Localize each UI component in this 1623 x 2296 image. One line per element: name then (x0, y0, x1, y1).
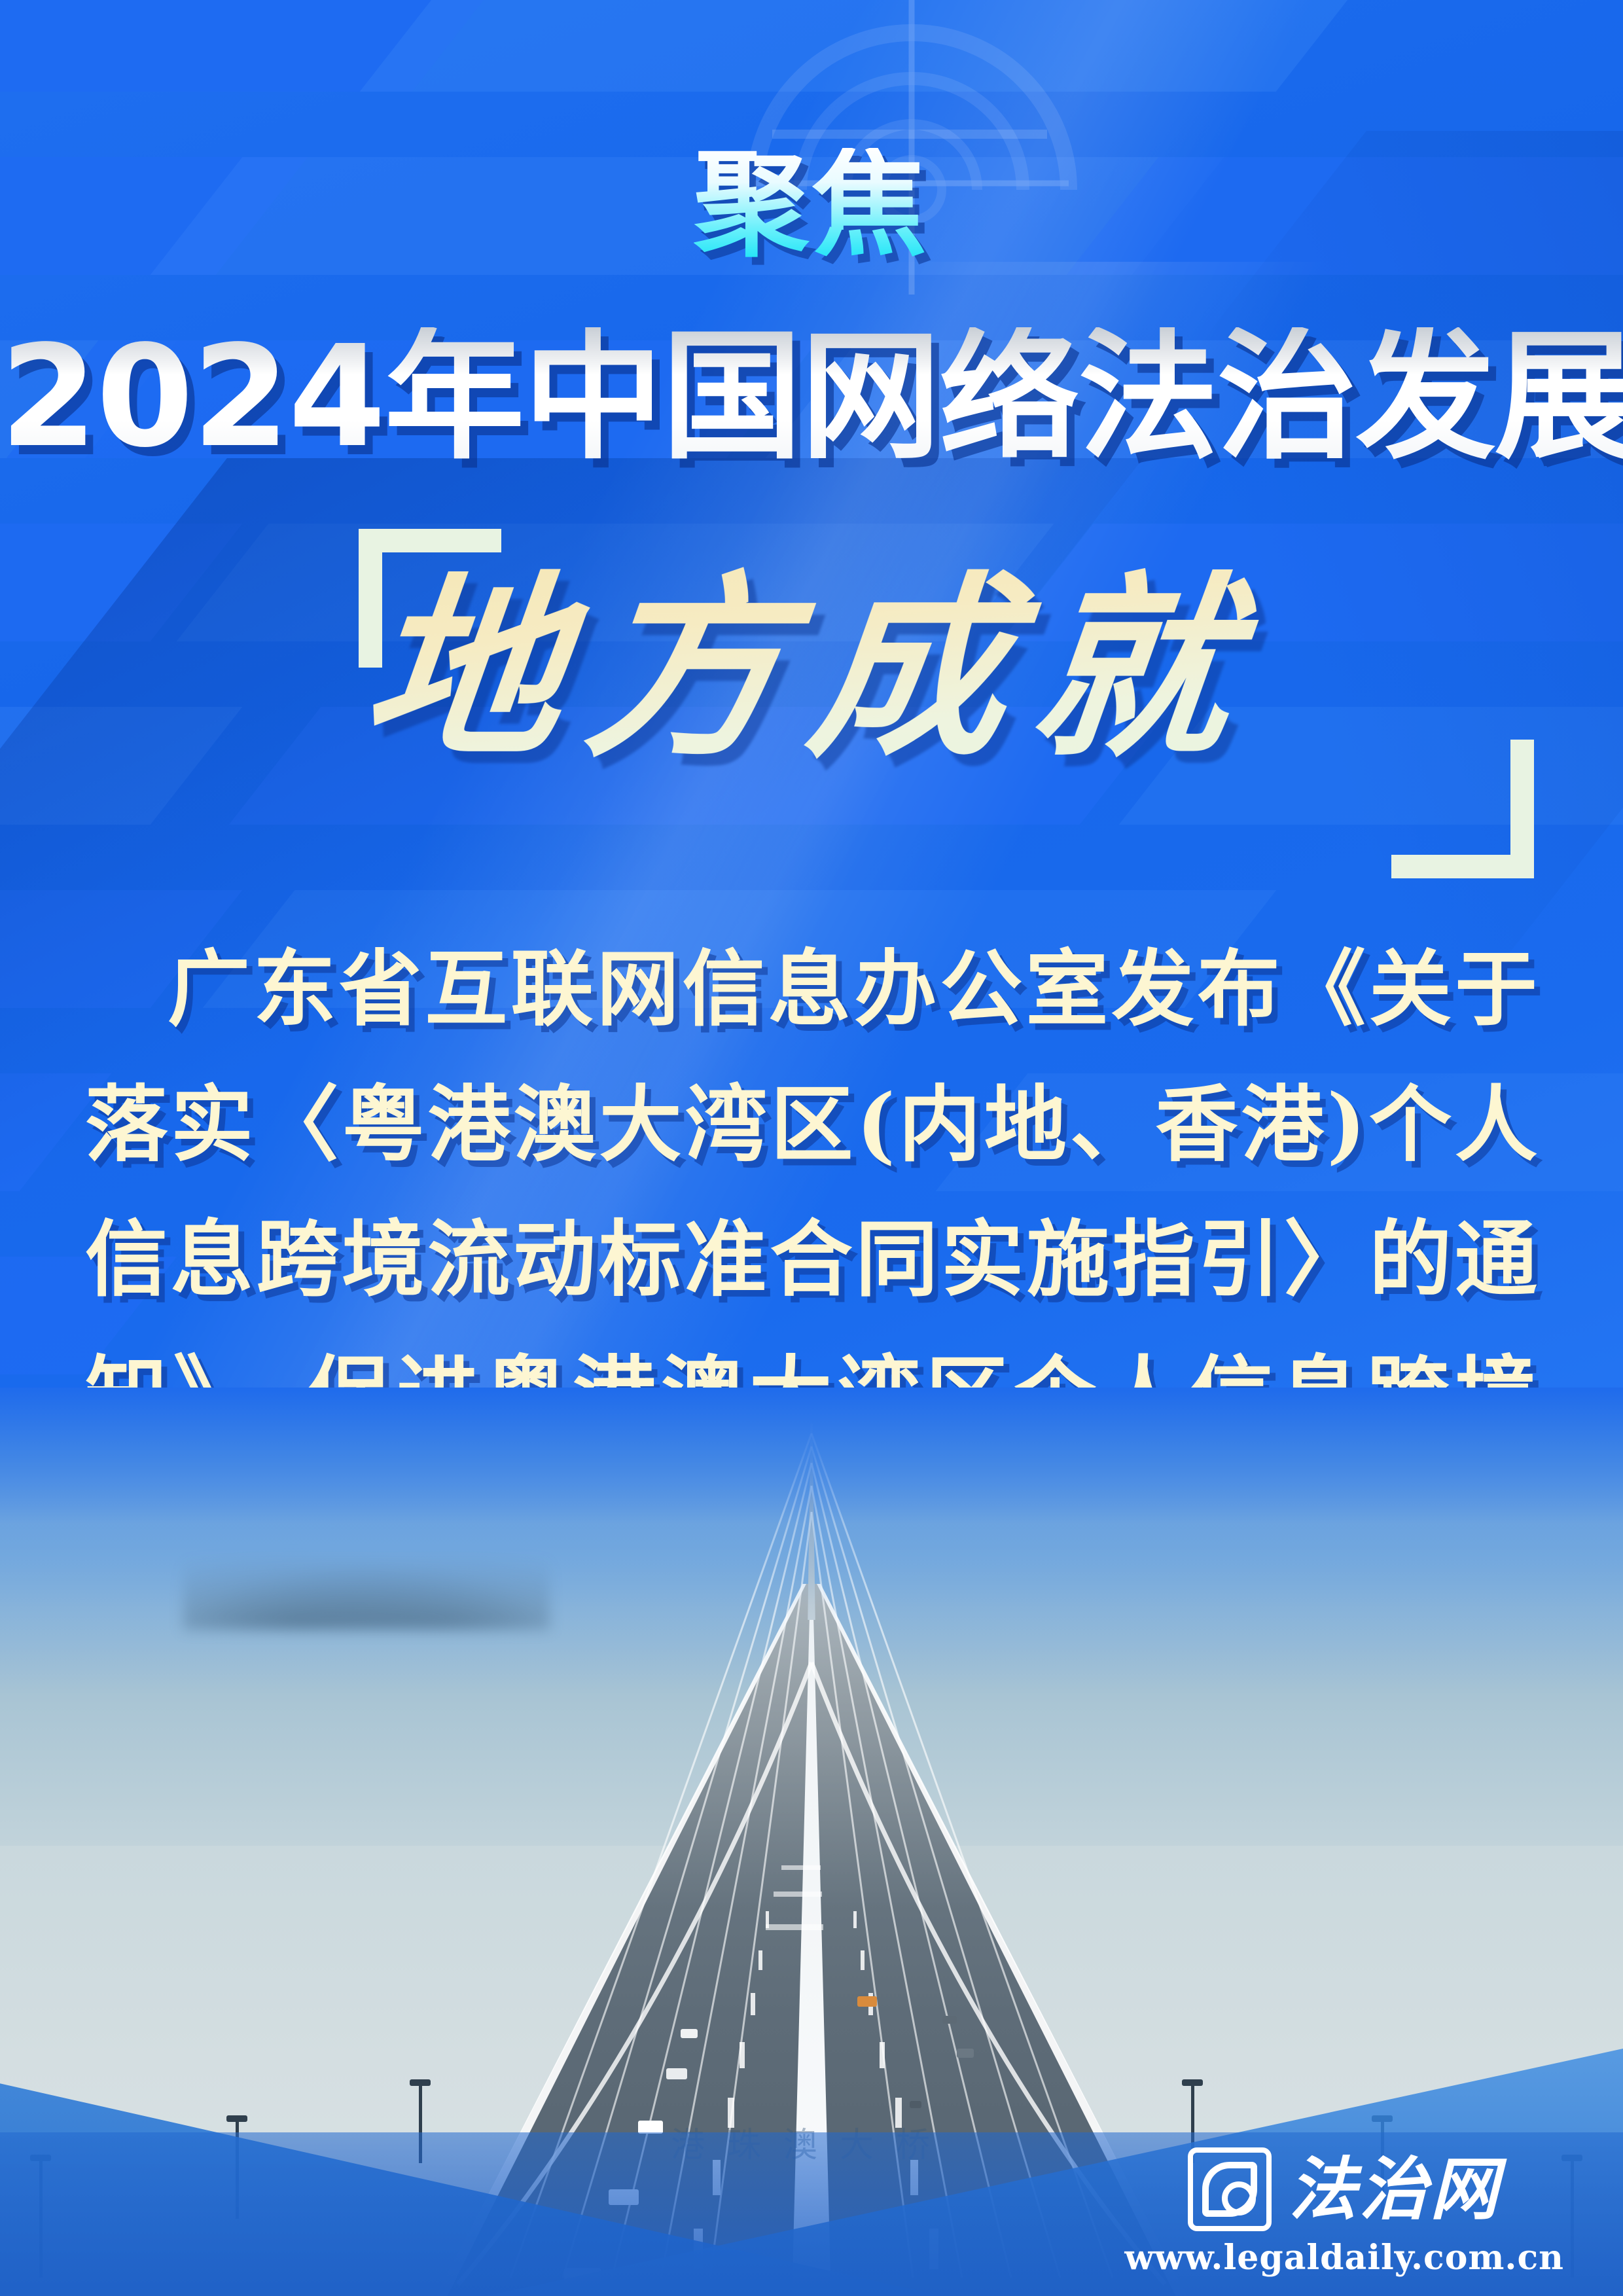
logo-brand-name: 法治网 (1289, 2155, 1501, 2223)
calligraphy-subtitle: 地方成就 (0, 564, 1623, 772)
legal-daily-logo[interactable]: 法治网 www.legaldaily.com.cn (1124, 2147, 1564, 2278)
poster-root: 聚焦 2024年中国网络法治发展 地方成就 广东省互联网信息办公室发布《关于落实… (0, 0, 1623, 2296)
logo-website-url: www.legaldaily.com.cn (1124, 2238, 1564, 2278)
seal-stamp-icon (1188, 2147, 1272, 2231)
focus-badge: 聚焦 (0, 148, 1623, 263)
focus-badge-label: 聚焦 (694, 148, 929, 263)
page-title: 2024年中国网络法治发展 (0, 327, 1623, 467)
badge-underline-bar (772, 130, 1047, 139)
